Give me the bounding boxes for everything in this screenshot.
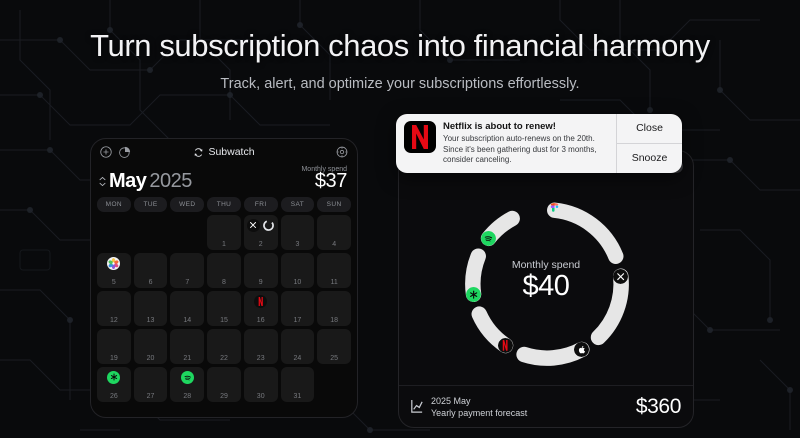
day-number: 6 — [134, 279, 168, 286]
day-number: 14 — [170, 317, 204, 324]
day-subscription-icons — [244, 219, 278, 232]
day-number: 12 — [97, 317, 131, 324]
calendar-day-cell[interactable]: 14 — [170, 291, 204, 326]
netflix-icon — [254, 295, 267, 308]
day-number: 9 — [244, 279, 278, 286]
renewal-notification: Netflix is about to renew! Your subscrip… — [396, 114, 682, 173]
day-number: 1 — [207, 241, 241, 248]
calendar-day-cell[interactable]: 22 — [207, 329, 241, 364]
donut-segment-icon[interactable] — [498, 338, 513, 353]
calendar-day-cell[interactable]: 9 — [244, 253, 278, 288]
day-number: 22 — [207, 355, 241, 362]
calendar-day-cell[interactable]: 11 — [317, 253, 351, 288]
forecast-chart-icon — [409, 398, 424, 415]
current-year: 2025 — [149, 170, 192, 193]
forecast-amount: $360 — [636, 395, 681, 419]
calendar-cell-empty — [97, 215, 131, 250]
spotify-icon — [181, 371, 194, 384]
x-icon — [247, 219, 260, 232]
forecast-period: 2025 May — [431, 396, 527, 406]
calendar-day-cell[interactable]: 21 — [170, 329, 204, 364]
day-subscription-icons — [97, 257, 131, 270]
calendar-day-cell[interactable]: 10 — [281, 253, 315, 288]
hero-section: Turn subscription chaos into financial h… — [0, 0, 800, 92]
donut-segment[interactable] — [599, 276, 622, 337]
page-subtitle: Track, alert, and optimize your subscrip… — [0, 76, 800, 92]
ring-icon — [262, 219, 275, 232]
netflix-icon — [410, 124, 430, 150]
day-of-week-wed: WED — [170, 197, 204, 212]
subscriptions-overview-panel: u have 6 active subscriptions Monthly sp… — [398, 150, 694, 428]
day-number: 21 — [170, 355, 204, 362]
figma-icon — [547, 203, 562, 218]
day-of-week-sun: SUN — [317, 197, 351, 212]
calendar-day-cell[interactable]: 1 — [207, 215, 241, 250]
calendar-grid: 1234567891011121314151617181920212223242… — [91, 215, 357, 402]
calendar-day-cell[interactable]: 3 — [281, 215, 315, 250]
calendar-day-cell[interactable]: 2 — [244, 215, 278, 250]
app-title: Subwatch — [208, 146, 254, 158]
monthly-spend-value: $37 — [301, 170, 347, 193]
day-number: 3 — [281, 241, 315, 248]
day-subscription-icons — [244, 295, 278, 308]
day-number: 16 — [244, 317, 278, 324]
donut-segment-icon[interactable] — [613, 269, 628, 284]
calendar-day-cell[interactable]: 23 — [244, 329, 278, 364]
day-number: 10 — [281, 279, 315, 286]
day-number: 26 — [97, 393, 131, 400]
day-number: 31 — [281, 393, 315, 400]
day-number: 11 — [317, 279, 351, 286]
calendar-day-cell[interactable]: 20 — [134, 329, 168, 364]
forecast-label: Yearly payment forecast — [431, 408, 527, 418]
day-number: 23 — [244, 355, 278, 362]
day-subscription-icons — [97, 371, 131, 384]
chevron-up-icon[interactable] — [99, 176, 106, 181]
calendar-day-cell[interactable]: 25 — [317, 329, 351, 364]
day-of-week-fri: FRI — [244, 197, 278, 212]
day-of-week-thu: THU — [207, 197, 241, 212]
notification-description: Your subscription auto-renews on the 20t… — [443, 134, 610, 166]
donut-segment[interactable] — [555, 210, 616, 256]
day-number: 18 — [317, 317, 351, 324]
day-number: 30 — [244, 393, 278, 400]
calendar-day-cell[interactable]: 26 — [97, 367, 131, 402]
day-of-week-mon: MON — [97, 197, 131, 212]
calendar-day-cell[interactable]: 18 — [317, 291, 351, 326]
donut-segment-icon[interactable] — [466, 287, 481, 302]
day-number: 15 — [207, 317, 241, 324]
day-number: 7 — [170, 279, 204, 286]
calendar-cell-empty — [134, 215, 168, 250]
calendar-day-cell[interactable]: 28 — [170, 367, 204, 402]
calendar-day-cell[interactable]: 19 — [97, 329, 131, 364]
day-subscription-icons — [170, 371, 204, 384]
day-number: 29 — [207, 393, 241, 400]
calendar-monthly-spend: Monthly spend $37 — [301, 166, 347, 193]
calendar-cell-empty — [170, 215, 204, 250]
page-title: Turn subscription chaos into financial h… — [0, 28, 800, 64]
day-number: 2 — [244, 241, 278, 248]
calendar-day-cell[interactable]: 16 — [244, 291, 278, 326]
day-number: 20 — [134, 355, 168, 362]
day-number: 8 — [207, 279, 241, 286]
app-title-group: Subwatch — [91, 146, 357, 158]
yearly-forecast-footer: 2025 May Yearly payment forecast $360 — [399, 385, 693, 427]
notification-app-logo — [404, 121, 436, 153]
calendar-day-cell[interactable]: 29 — [207, 367, 241, 402]
day-number: 5 — [97, 279, 131, 286]
calendar-day-cell[interactable]: 17 — [281, 291, 315, 326]
chevron-down-icon[interactable] — [99, 182, 106, 187]
donut-segment[interactable] — [524, 349, 582, 358]
photos-icon — [107, 257, 120, 270]
month-selector-row: May 2025 Monthly spend $37 — [91, 165, 357, 197]
month-stepper[interactable] — [99, 176, 106, 187]
calendar-day-cell[interactable]: 30 — [244, 367, 278, 402]
donut-segment-icon[interactable] — [547, 203, 562, 218]
close-button[interactable]: Close — [617, 114, 682, 143]
donut-segment-icon[interactable] — [481, 231, 496, 246]
calendar-day-cell[interactable]: 5 — [97, 253, 131, 288]
spotify-icon — [481, 231, 496, 246]
x-icon — [613, 269, 628, 284]
refresh-icon[interactable] — [193, 147, 204, 158]
day-number: 24 — [281, 355, 315, 362]
netflix-icon — [498, 338, 513, 353]
day-of-week-header: MONTUEWEDTHUFRISATSUN — [91, 197, 357, 215]
day-number: 28 — [170, 393, 204, 400]
day-number: 13 — [134, 317, 168, 324]
calendar-day-cell[interactable]: 13 — [134, 291, 168, 326]
calendar-day-cell[interactable]: 7 — [170, 253, 204, 288]
day-number: 19 — [97, 355, 131, 362]
calendar-panel: Subwatch May 2025 Monthly spend — [90, 138, 358, 418]
calendar-toolbar: Subwatch — [91, 139, 357, 165]
current-month: May — [109, 170, 146, 193]
day-number: 4 — [317, 241, 351, 248]
calendar-day-cell[interactable]: 24 — [281, 329, 315, 364]
day-of-week-tue: TUE — [134, 197, 168, 212]
calendar-day-cell[interactable]: 31 — [281, 367, 315, 402]
day-of-week-sat: SAT — [281, 197, 315, 212]
asterisk-green-icon — [466, 287, 481, 302]
calendar-day-cell[interactable]: 27 — [134, 367, 168, 402]
day-number: 17 — [281, 317, 315, 324]
notification-title: Netflix is about to renew! — [443, 121, 610, 132]
day-number: 25 — [317, 355, 351, 362]
asterisk-green-icon — [107, 371, 120, 384]
day-number: 27 — [134, 393, 168, 400]
calendar-day-cell[interactable]: 15 — [207, 291, 241, 326]
calendar-day-cell[interactable]: 6 — [134, 253, 168, 288]
calendar-day-cell[interactable]: 8 — [207, 253, 241, 288]
snooze-button[interactable]: Snooze — [617, 143, 682, 173]
calendar-day-cell[interactable]: 12 — [97, 291, 131, 326]
calendar-day-cell[interactable]: 4 — [317, 215, 351, 250]
monthly-spend-donut-chart: Monthly spend $40 — [399, 181, 693, 387]
